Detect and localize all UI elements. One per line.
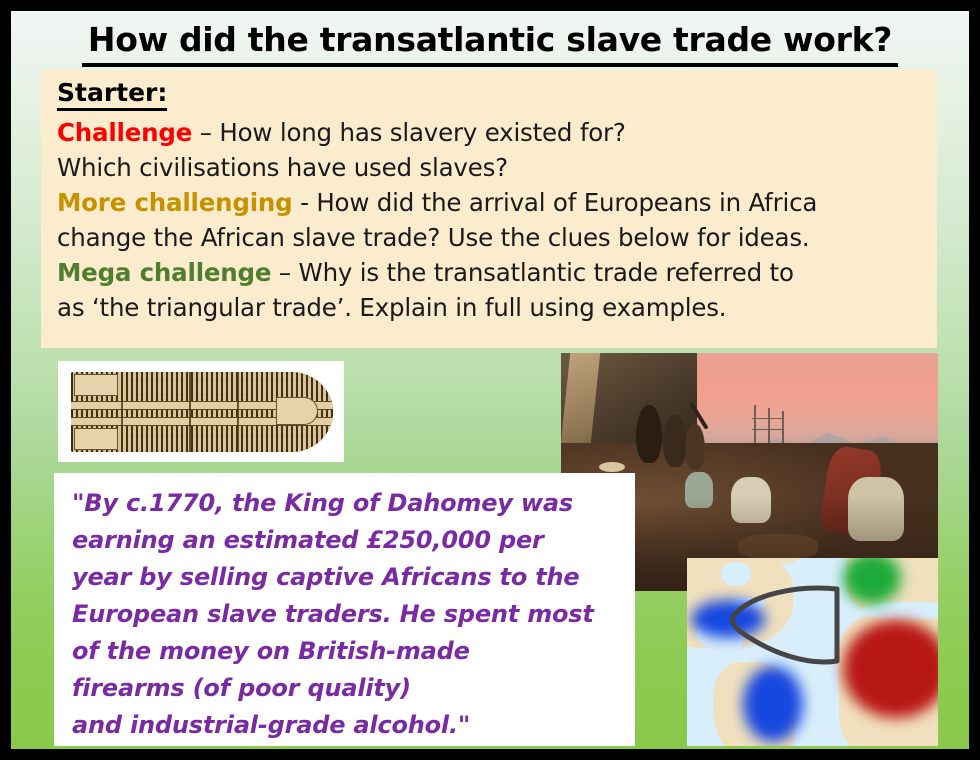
slide-canvas: How did the transatlantic slave trade wo… bbox=[11, 11, 969, 749]
triangular-trade-route-outline bbox=[687, 558, 938, 746]
starter-line-3-text: - How did the arrival of Europeans in Af… bbox=[293, 188, 818, 217]
quote-line-4: European slave traders. He spent most bbox=[72, 596, 621, 633]
page-title: How did the transatlantic slave trade wo… bbox=[82, 19, 898, 67]
ship-hold-fore-top bbox=[75, 375, 117, 395]
ship-bulkhead-2 bbox=[189, 372, 191, 452]
quote-line-5: of the money on British-made bbox=[72, 633, 621, 670]
starter-line-2: Which civilisations have used slaves? bbox=[57, 150, 925, 185]
dahomey-quote-panel: "By c.1770, the King of Dahomey was earn… bbox=[54, 473, 635, 746]
keyword-mega-challenge: Mega challenge bbox=[57, 258, 271, 287]
keyword-challenge: Challenge bbox=[57, 118, 192, 147]
slave-ship-diagram-image bbox=[58, 361, 344, 462]
starter-line-3: More challenging - How did the arrival o… bbox=[57, 185, 925, 220]
painting-figure-overseer bbox=[685, 424, 705, 470]
starter-line-4-text: change the African slave trade? Use the … bbox=[57, 223, 810, 252]
painting-figure-standing-2 bbox=[663, 415, 687, 467]
starter-line-2-text: Which civilisations have used slaves? bbox=[57, 153, 508, 182]
starter-line-5-text: – Why is the transatlantic trade referre… bbox=[271, 258, 793, 287]
starter-heading-row: Starter: bbox=[57, 78, 925, 115]
ship-hold-fore-bottom bbox=[75, 429, 117, 449]
quote-line-3: year by selling captive Africans to the bbox=[72, 559, 621, 596]
starter-line-6-text: as ‘the triangular trade’. Explain in fu… bbox=[57, 293, 726, 322]
ship-stern-cabin bbox=[277, 398, 317, 424]
keyword-more-challenging: More challenging bbox=[57, 188, 293, 217]
title-area: How did the transatlantic slave trade wo… bbox=[11, 19, 969, 67]
starter-heading: Starter: bbox=[57, 78, 167, 111]
starter-line-6: as ‘the triangular trade’. Explain in fu… bbox=[57, 290, 925, 325]
starter-line-4: change the African slave trade? Use the … bbox=[57, 220, 925, 255]
ship-bulkhead-3 bbox=[237, 372, 239, 452]
starter-line-5: Mega challenge – Why is the transatlanti… bbox=[57, 255, 925, 290]
starter-line-1-text: – How long has slavery existed for? bbox=[192, 118, 626, 147]
quote-line-6: firearms (of poor quality) bbox=[72, 670, 621, 707]
triangular-trade-map-image bbox=[687, 558, 938, 746]
painting-figure-standing-1 bbox=[636, 405, 662, 463]
starter-panel: Starter: Challenge – How long has slaver… bbox=[41, 70, 937, 348]
quote-line-7: and industrial-grade alcohol." bbox=[72, 707, 621, 744]
starter-line-1: Challenge – How long has slavery existed… bbox=[57, 115, 925, 150]
quote-line-1: "By c.1770, the King of Dahomey was bbox=[72, 485, 621, 522]
quote-line-2: earning an estimated £250,000 per bbox=[72, 522, 621, 559]
ship-bulkhead-1 bbox=[121, 372, 123, 452]
ship-hull-shape bbox=[71, 372, 333, 452]
